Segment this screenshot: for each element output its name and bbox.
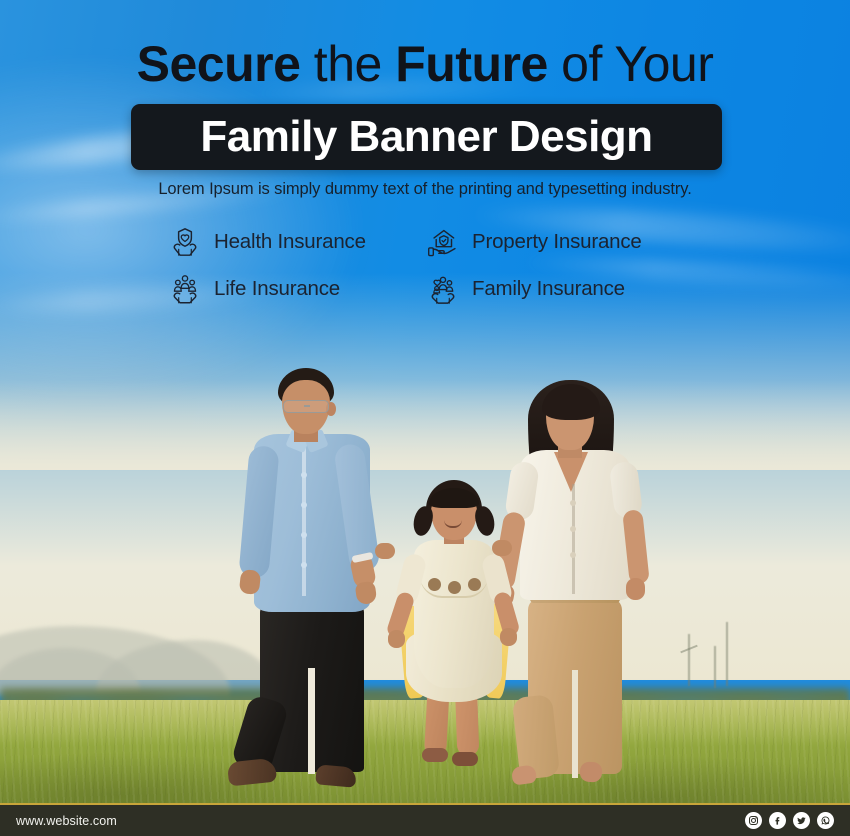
daughter-dress-dot — [468, 578, 481, 591]
mother-leg-gap — [572, 670, 578, 778]
father-shirt-button — [301, 472, 307, 478]
page-title: Secure the Future of Your — [0, 38, 850, 90]
daughter-sandal — [422, 748, 448, 762]
mother-blouse-button — [570, 526, 576, 532]
feature-item-family-insurance[interactable]: Family Insurance — [426, 272, 698, 306]
website-url[interactable]: www.website.com — [16, 814, 117, 828]
feature-item-life-insurance[interactable]: Life Insurance — [168, 272, 426, 306]
title-highlight-box: Family Banner Design — [131, 104, 722, 170]
father-shirt-button — [301, 562, 307, 568]
title-text: Family Banner Design — [200, 112, 652, 162]
father-shirt-button — [301, 502, 307, 508]
headline-word-secure: Secure — [137, 36, 301, 92]
social-links — [745, 812, 834, 829]
daughter-dress-dot — [448, 581, 461, 594]
subtitle: Lorem Ipsum is simply dummy text of the … — [0, 180, 850, 199]
hands-family-heart-icon — [426, 272, 460, 306]
figure-mother — [492, 378, 654, 790]
feature-list: Health Insurance Property Insurance — [168, 218, 698, 312]
father-shirt-placket — [302, 446, 306, 596]
daughter-pigtail — [411, 504, 435, 537]
mother-hand — [626, 578, 645, 600]
headline-word-the: the — [300, 36, 395, 92]
twitter-icon[interactable] — [793, 812, 810, 829]
feature-label: Health Insurance — [214, 230, 366, 254]
father-leg-gap — [308, 668, 315, 774]
father-shoe — [227, 758, 277, 787]
hand-house-shield-icon — [426, 225, 460, 259]
facebook-icon[interactable] — [769, 812, 786, 829]
daughter-hand — [388, 630, 405, 648]
instagram-icon[interactable] — [745, 812, 762, 829]
daughter-sandal — [452, 752, 478, 766]
insurance-banner: Secure the Future of Your Family Banner … — [0, 0, 850, 836]
mother-blouse-button — [570, 500, 576, 506]
footer-bar: www.website.com — [0, 803, 850, 836]
whatsapp-icon[interactable] — [817, 812, 834, 829]
feature-label: Life Insurance — [214, 277, 340, 301]
father-glasses — [283, 400, 329, 413]
feature-item-health-insurance[interactable]: Health Insurance — [168, 225, 426, 259]
daughter-pigtail — [473, 504, 497, 537]
hands-heart-shield-icon — [168, 225, 202, 259]
held-hands-left — [375, 543, 395, 559]
held-hands-right — [492, 540, 512, 556]
feature-item-property-insurance[interactable]: Property Insurance — [426, 225, 698, 259]
father-shirt-button — [301, 532, 307, 538]
daughter-hand — [500, 628, 517, 646]
feature-label: Property Insurance — [472, 230, 642, 254]
headline-word-of-your: of Your — [548, 36, 714, 92]
figure-father — [230, 368, 390, 788]
mother-foot — [511, 764, 537, 785]
headline-word-future: Future — [395, 36, 548, 92]
feature-label: Family Insurance — [472, 277, 625, 301]
mother-foot — [579, 761, 602, 782]
daughter-dress-dot — [428, 578, 441, 591]
hands-family-icon — [168, 272, 202, 306]
figure-daughter — [398, 480, 510, 786]
mother-blouse-button — [570, 552, 576, 558]
